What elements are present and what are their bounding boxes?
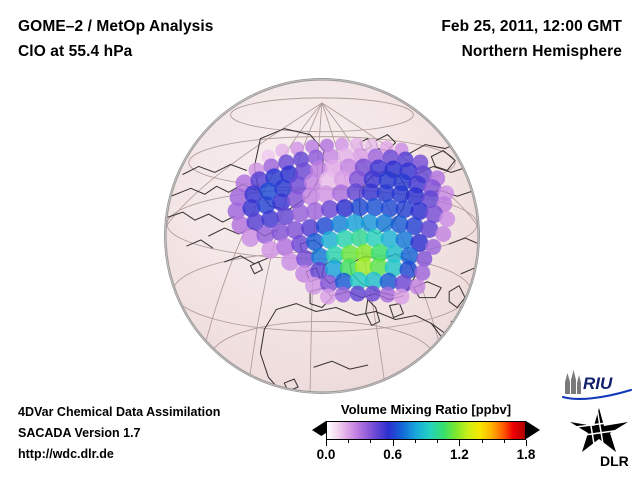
riu-wordmark: RIU (583, 374, 613, 393)
plume-cell (350, 286, 366, 302)
plume-cell (242, 229, 260, 247)
globe-svg (165, 79, 479, 393)
version-label: SACADA Version 1.7 (18, 423, 220, 444)
instrument-title: GOME–2 / MetOp Analysis (18, 14, 214, 39)
dlr-wordmark: DLR (600, 453, 629, 468)
plume-cell (365, 286, 381, 302)
colorbar-minor-tick (348, 440, 349, 443)
colorbar-major-tick (459, 440, 460, 446)
riu-logo-svg: RIU (561, 368, 633, 402)
dlr-logo-svg: DLR (566, 406, 634, 468)
colorbar-under-arrow-icon (312, 421, 326, 439)
colorbar-minor-tick (482, 440, 483, 443)
url-label[interactable]: http://wdc.dlr.de (18, 444, 220, 465)
plume-cell (439, 211, 455, 227)
colorbar-tick-labels: 0.00.61.21.8 (326, 447, 526, 465)
colorbar-title: Volume Mixing Ratio [ppbv] (312, 402, 540, 417)
valid-time-label: Feb 25, 2011, 12:00 GMT (441, 14, 622, 39)
method-label: 4DVar Chemical Data Assimilation (18, 402, 220, 423)
colorbar-tick-label: 1.2 (450, 447, 469, 462)
colorbar-over-arrow-icon (526, 421, 540, 439)
riu-tower-icon (565, 370, 581, 394)
globe-map-panel (164, 78, 480, 394)
colorbar-minor-tick (504, 440, 505, 443)
colorbar-major-tick (526, 440, 527, 446)
clo-plume-layer (228, 138, 456, 305)
plume-cell (414, 265, 430, 281)
colorbar-under-arrow-fill (315, 433, 326, 447)
colorbar-gradient (326, 421, 526, 440)
species-level-subtitle: ClO at 55.4 hPa (18, 39, 214, 64)
globe-disc (164, 78, 480, 394)
plume-cell (380, 287, 396, 303)
plume-cell (320, 289, 336, 305)
plume-cell (281, 253, 299, 271)
plume-cell (335, 287, 351, 303)
dlr-logo: DLR (566, 406, 634, 468)
footer-left: 4DVar Chemical Data Assimilation SACADA … (18, 402, 220, 465)
hemisphere-label: Northern Hemisphere (441, 39, 622, 64)
dlr-mark-icon (568, 408, 630, 456)
plume-cell (409, 279, 425, 295)
header-right: Feb 25, 2011, 12:00 GMT Northern Hemisph… (441, 14, 622, 64)
colorbar-major-tick (326, 440, 327, 446)
colorbar-minor-tick (370, 440, 371, 443)
header-left: GOME–2 / MetOp Analysis ClO at 55.4 hPa (18, 14, 214, 64)
plume-cell (435, 226, 451, 242)
colorbar-tick-label: 0.0 (317, 447, 336, 462)
colorbar-block: Volume Mixing Ratio [ppbv] 0.00.61.21.8 (312, 402, 540, 441)
riu-logo: RIU (561, 368, 633, 402)
plume-cell (394, 289, 410, 305)
colorbar-tick-label: 0.6 (383, 447, 402, 462)
plume-cell (261, 241, 279, 259)
plume-cell (416, 251, 432, 267)
colorbar-tick-label: 1.8 (517, 447, 536, 462)
colorbar-ticks (326, 440, 526, 446)
colorbar-row: 0.00.61.21.8 (312, 421, 540, 441)
colorbar-major-tick (393, 440, 394, 446)
colorbar-minor-tick (437, 440, 438, 443)
colorbar-minor-tick (415, 440, 416, 443)
